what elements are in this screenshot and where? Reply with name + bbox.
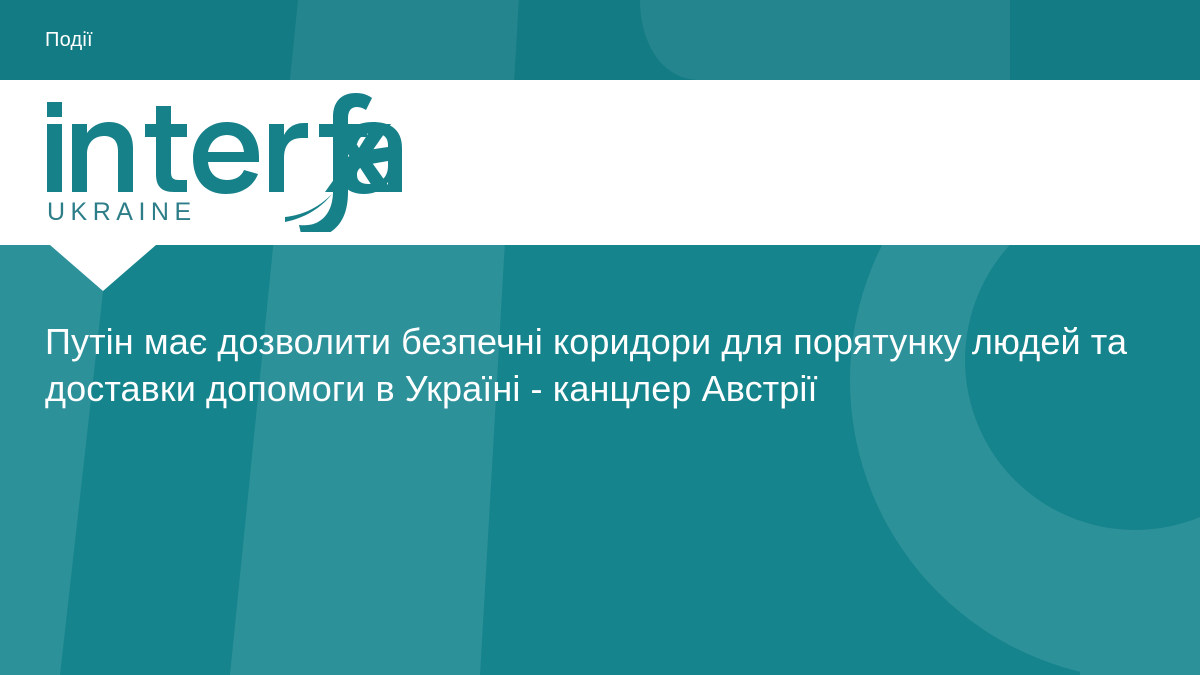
category-label[interactable]: Події [45,0,93,80]
category-bar: Події [0,0,1200,80]
headline-title[interactable]: Путін має дозволити безпечні коридори дл… [45,318,1170,412]
news-share-card: Події [0,0,1200,675]
logo-card: UKRAINE [0,80,1200,245]
logo-card-pointer [50,245,156,291]
interfax-logo[interactable]: UKRAINE [45,92,405,232]
logo-subtitle: UKRAINE [47,198,197,226]
category-bar-tint [0,0,1200,80]
